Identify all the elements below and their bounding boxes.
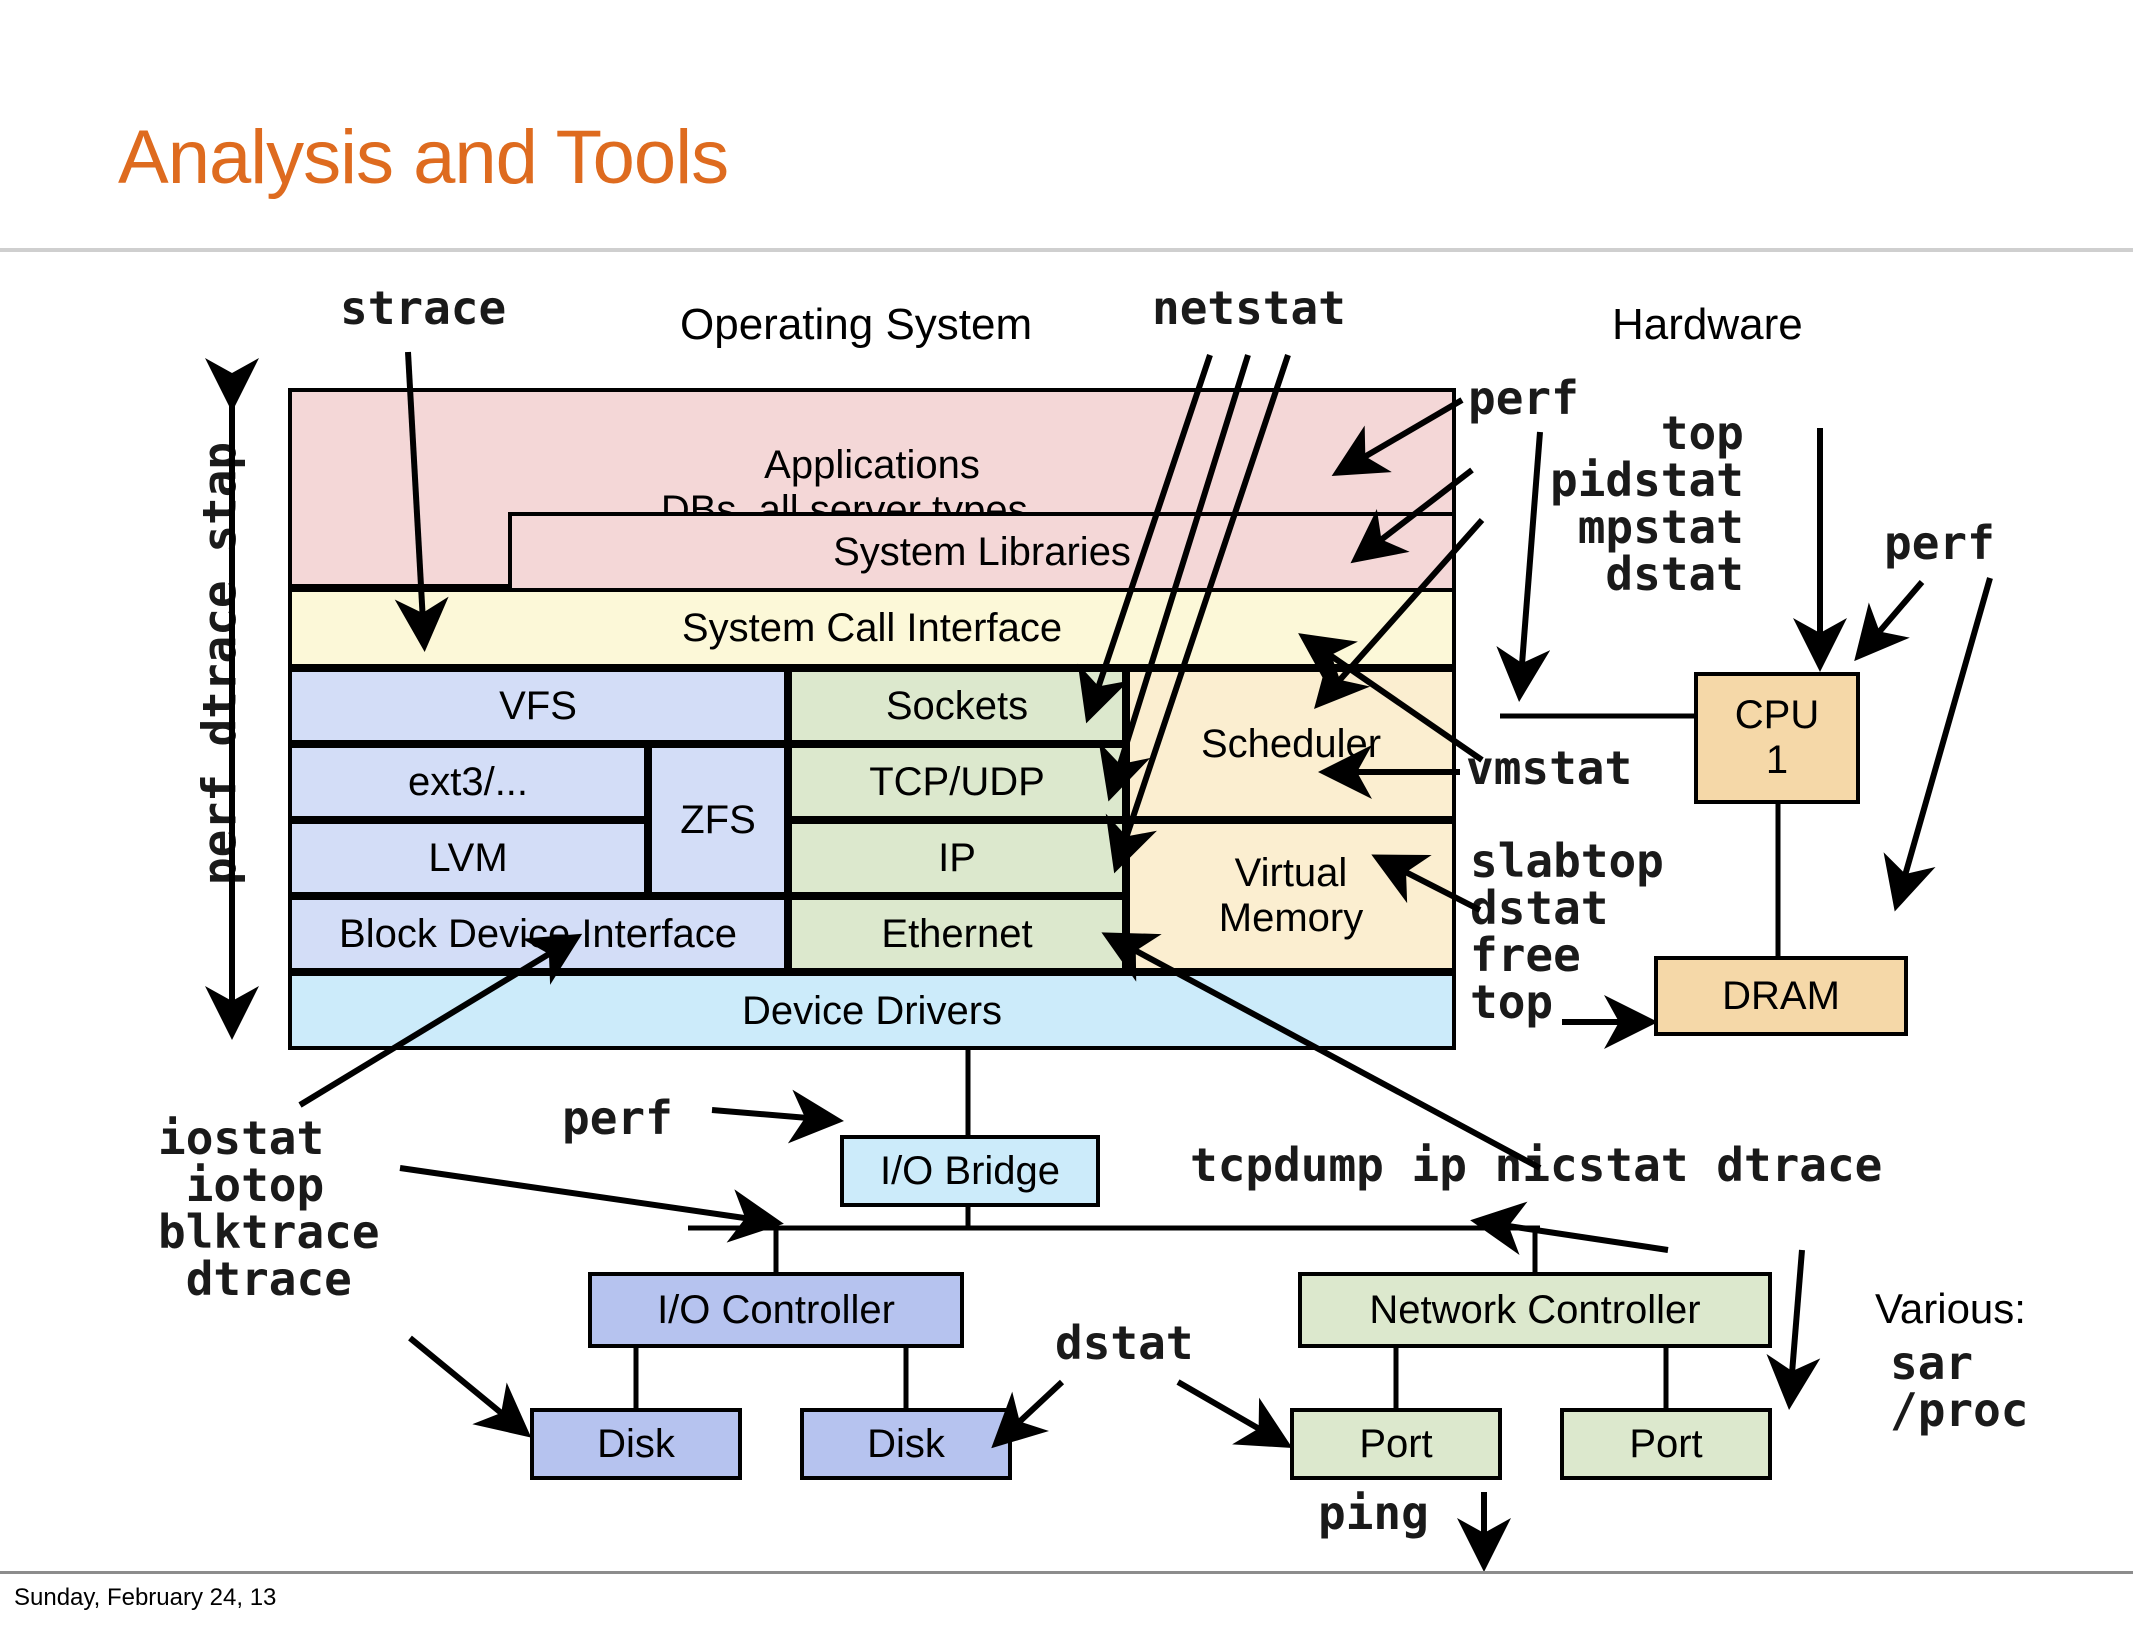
ext3-box: ext3/... [288, 744, 648, 820]
tool-label-memory-tools: slabtop dstat free top [1470, 838, 1664, 1026]
port-box-2: Port [1560, 1408, 1772, 1480]
vfs-box: VFS [288, 668, 788, 744]
tool-label-various-tools: sar /proc [1890, 1340, 2028, 1434]
tool-label-vmstat: vmstat [1466, 745, 1632, 792]
lvm-box: LVM [288, 820, 648, 896]
zfs-box: ZFS [648, 744, 788, 896]
arrow-perf-cpu-rail [1520, 432, 1540, 690]
tool-label-perf-bridge: perf [562, 1095, 673, 1142]
virtual-memory-line2: Memory [1219, 896, 1363, 941]
various-label: Various: [1875, 1285, 2026, 1333]
header-divider [0, 248, 2133, 252]
network-controller-box: Network Controller [1298, 1272, 1772, 1348]
footer-divider [0, 1571, 2133, 1574]
disk-box-2: Disk [800, 1408, 1012, 1480]
disk-box-1: Disk [530, 1408, 742, 1480]
section-label-operating-system: Operating System [680, 300, 1032, 350]
arrow-disk-tools-disk [410, 1338, 522, 1430]
arrow-perf-right-dram [1898, 578, 1990, 900]
scheduler-box: Scheduler [1126, 668, 1456, 820]
virtual-memory-line1: Virtual [1219, 851, 1363, 896]
port-box-1: Port [1290, 1408, 1502, 1480]
left-axis-label: perf dtrace stap [197, 383, 244, 943]
device-drivers-box: Device Drivers [288, 972, 1456, 1050]
arrow-various-port [1790, 1250, 1802, 1398]
ip-box: IP [788, 820, 1126, 896]
arrow-perf-right-cpu [1862, 582, 1922, 652]
virtual-memory-box: Virtual Memory [1126, 820, 1456, 972]
footer-date: Sunday, February 24, 13 [14, 1584, 276, 1612]
tool-label-ping: ping [1318, 1490, 1429, 1537]
tool-label-cpu-tools: top pidstat mpstat dstat [1550, 410, 1744, 598]
section-label-hardware: Hardware [1612, 300, 1803, 350]
arrow-perf-rail [712, 1110, 832, 1120]
arrow-dstat-port [1178, 1382, 1282, 1442]
tool-label-dstat-bottom: dstat [1055, 1320, 1193, 1367]
tool-label-perf-right: perf [1884, 520, 1995, 567]
tool-label-network-tools: tcpdump ip nicstat dtrace [1190, 1142, 1882, 1189]
cpu-line2: 1 [1735, 738, 1819, 783]
applications-title: Applications [661, 443, 1083, 488]
system-libraries-box: System Libraries [508, 512, 1456, 592]
block-device-interface-box: Block Device Interface [288, 896, 788, 972]
dram-box: DRAM [1654, 956, 1908, 1036]
tool-label-disk-tools: iostat iotop blktrace dtrace [158, 1115, 380, 1303]
arrow-disk-tools-rail [400, 1168, 772, 1222]
tcp-udp-box: TCP/UDP [788, 744, 1126, 820]
ethernet-box: Ethernet [788, 896, 1126, 972]
io-controller-box: I/O Controller [588, 1272, 964, 1348]
arrow-net-tools-rail [1482, 1222, 1668, 1250]
cpu-line1: CPU [1735, 693, 1819, 738]
tool-label-strace: strace [340, 285, 506, 332]
cpu-box: CPU 1 [1694, 672, 1860, 804]
system-call-interface-box: System Call Interface [288, 588, 1456, 668]
tool-label-netstat: netstat [1152, 285, 1346, 332]
io-bridge-box: I/O Bridge [840, 1135, 1100, 1207]
sockets-box: Sockets [788, 668, 1126, 744]
page-title: Analysis and Tools [118, 120, 728, 196]
